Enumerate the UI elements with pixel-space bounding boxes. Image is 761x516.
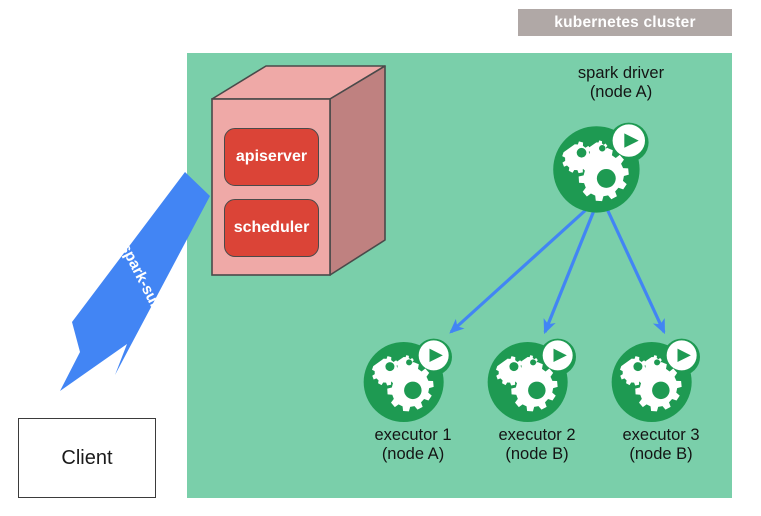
apiserver-label: apiserver: [236, 148, 307, 166]
client-box[interactable]: Client: [18, 418, 156, 498]
scheduler-component[interactable]: scheduler: [224, 199, 319, 257]
architecture-diagram: kubernetes cluster: [0, 0, 761, 516]
executor-3-label: executor 3(node B): [586, 426, 736, 464]
scheduler-label: scheduler: [234, 219, 310, 237]
cube-side-face: [330, 66, 385, 275]
apiserver-component[interactable]: apiserver: [224, 128, 319, 186]
client-label: Client: [61, 447, 112, 470]
kubernetes-cluster-label: kubernetes cluster: [518, 9, 732, 36]
spark-driver-label: spark driver(node A): [521, 64, 721, 102]
